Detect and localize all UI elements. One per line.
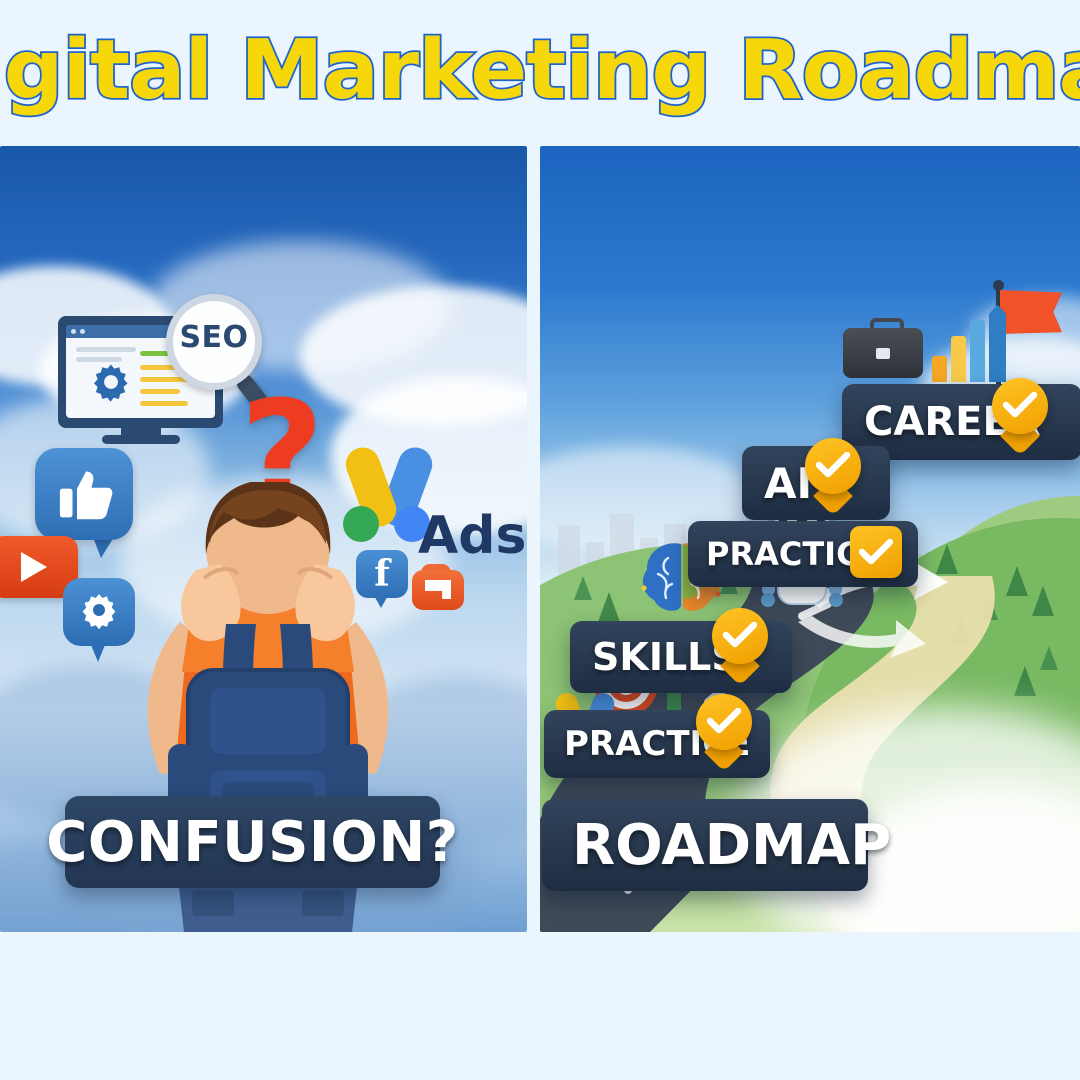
checkmark-pin-ai <box>805 438 861 510</box>
confusion-banner-label: CONFUSION? <box>46 810 458 875</box>
checkmark-box-practice-upper <box>850 526 902 578</box>
checkmark-pin-skills <box>712 608 768 680</box>
bar-chart-icon <box>932 294 1010 382</box>
bar <box>989 305 1006 382</box>
checkmark-pin-practice-lower <box>696 694 752 766</box>
checkmark-pin-career <box>992 378 1048 450</box>
sign-roadmap-label: ROADMAP <box>572 813 891 878</box>
gear-icon <box>88 359 134 405</box>
roadmap-panel: Ads CAREER AI PRACTICE SKILLS <box>540 146 1080 932</box>
video-icon <box>412 564 464 612</box>
confusion-panel: SEO ? Ads f <box>0 146 527 932</box>
google-ads-label: Ads <box>418 506 526 566</box>
sign-roadmap[interactable]: ROADMAP <box>542 799 868 891</box>
bar <box>932 356 947 382</box>
page-title: Digital Marketing Roadmap <box>0 30 1080 112</box>
header-bar: Digital Marketing Roadmap <box>0 0 1080 146</box>
confusion-banner: CONFUSION? <box>65 796 440 888</box>
bar <box>970 320 985 382</box>
monitor-gear-icon: SEO <box>58 316 223 441</box>
briefcase-icon <box>843 318 923 378</box>
bar <box>951 336 966 382</box>
